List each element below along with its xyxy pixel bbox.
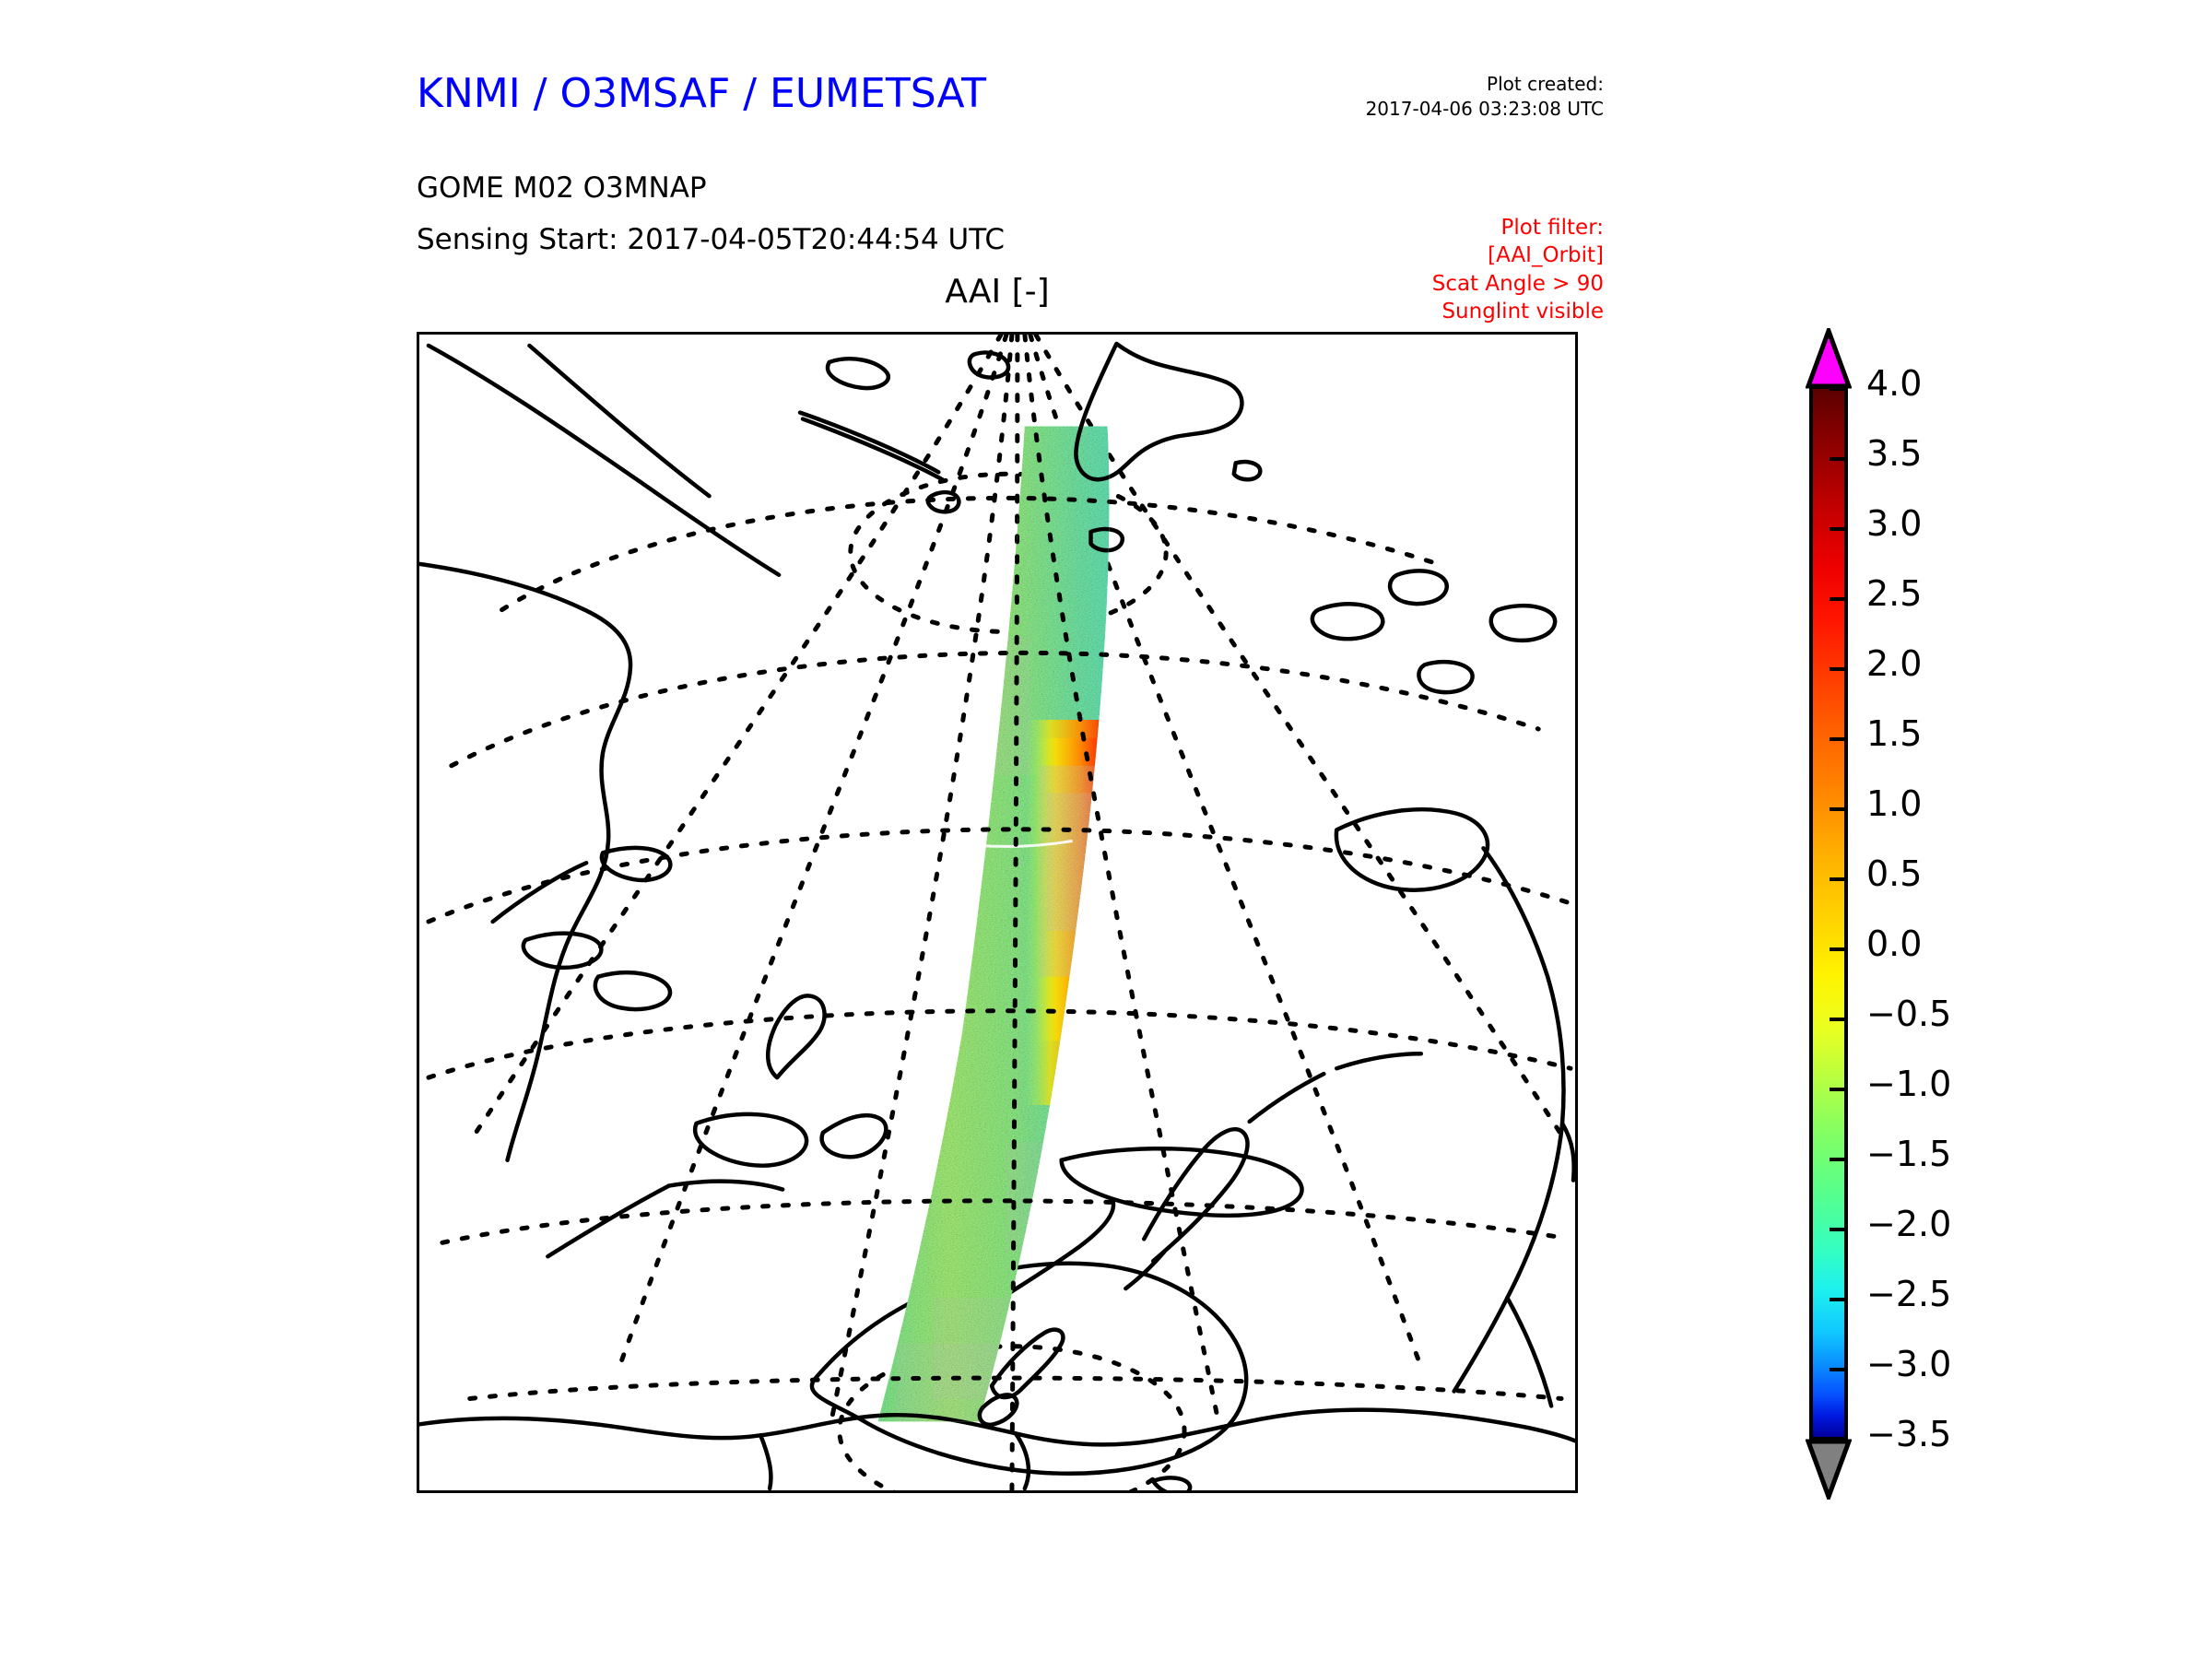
- colorbar-tick-label: 2.0: [1866, 643, 1922, 684]
- colorbar-tick: [1830, 667, 1848, 671]
- colorbar-tick: [1830, 1298, 1848, 1301]
- plot-filter-label: Plot filter:: [1198, 214, 1604, 241]
- plot-created-block: Plot created: 2017-04-06 03:23:08 UTC: [1088, 72, 1604, 122]
- map-content: [419, 335, 1575, 1490]
- sensing-start-text: Sensing Start: 2017-04-05T20:44:54 UTC: [417, 223, 1005, 256]
- map-plot-area[interactable]: [417, 332, 1578, 1493]
- orthographic-map: [419, 335, 1575, 1490]
- colorbar-under-range-arrow: [1806, 1439, 1852, 1500]
- colorbar-tick: [1830, 1088, 1848, 1091]
- colorbar[interactable]: 4.0 3.5 3.0 2.5 2.0 1.5 1.0 0.5 0.0 −0.5…: [1809, 330, 2196, 1496]
- product-name: GOME M02 O3MNAP: [417, 171, 707, 205]
- colorbar-tick-label: 2.5: [1866, 573, 1922, 614]
- plot-created-timestamp: 2017-04-06 03:23:08 UTC: [1088, 97, 1604, 122]
- colorbar-tick: [1830, 1368, 1848, 1371]
- colorbar-tick: [1830, 1018, 1848, 1021]
- colorbar-tick: [1830, 527, 1848, 531]
- colorbar-tick: [1830, 737, 1848, 741]
- colorbar-tick: [1830, 877, 1848, 881]
- colorbar-tick-label: 1.0: [1866, 783, 1922, 824]
- colorbar-tick-label: 1.5: [1866, 713, 1922, 754]
- colorbar-tick-label: 0.5: [1866, 853, 1922, 894]
- colorbar-tick: [1830, 807, 1848, 811]
- colorbar-tick-label: −3.0: [1866, 1344, 1951, 1384]
- colorbar-gradient: [1809, 385, 1848, 1441]
- colorbar-tick-label: −0.5: [1866, 994, 1951, 1034]
- colorbar-tick-label: −1.0: [1866, 1064, 1951, 1104]
- colorbar-tick: [1830, 1228, 1848, 1231]
- colorbar-tick-label: −1.5: [1866, 1134, 1951, 1174]
- colorbar-tick: [1830, 1158, 1848, 1161]
- coastlines-overlay: [419, 344, 1382, 1444]
- organization-title: KNMI / O3MSAF / EUMETSAT: [417, 70, 1117, 117]
- plot-created-label: Plot created:: [1088, 72, 1604, 97]
- colorbar-tick-label: 3.0: [1866, 503, 1922, 544]
- colorbar-tick: [1830, 597, 1848, 601]
- colorbar-tick-label: −3.5: [1866, 1414, 1951, 1454]
- plot-filter-orbit: [AAI_Orbit]: [1198, 241, 1604, 269]
- colorbar-over-range-arrow: [1806, 328, 1852, 389]
- colorbar-tick-label: 0.0: [1866, 924, 1922, 964]
- colorbar-tick-label: 3.5: [1866, 433, 1922, 474]
- colorbar-tick-label: −2.0: [1866, 1204, 1951, 1244]
- colorbar-tick: [1830, 947, 1848, 951]
- colorbar-tick-label: −2.5: [1866, 1274, 1951, 1314]
- colorbar-tick: [1830, 1438, 1848, 1441]
- colorbar-tick: [1830, 457, 1848, 461]
- colorbar-tick: [1830, 387, 1848, 391]
- colorbar-tick-label: 4.0: [1866, 363, 1922, 404]
- plot-title: AAI [-]: [417, 273, 1578, 311]
